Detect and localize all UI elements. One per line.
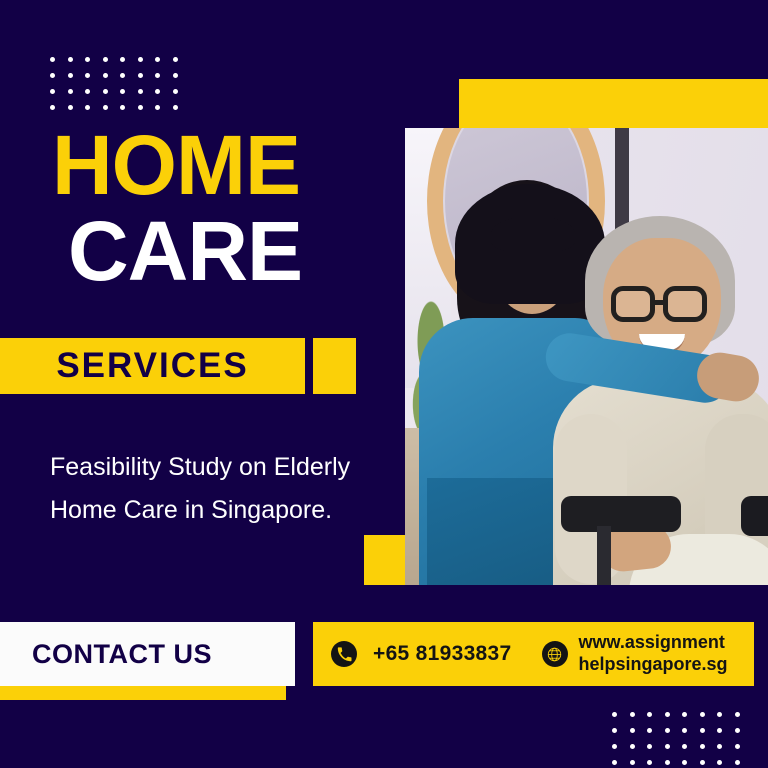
dot xyxy=(173,105,178,110)
dot xyxy=(665,712,670,717)
dot xyxy=(717,744,722,749)
contact-us-button[interactable]: CONTACT US xyxy=(0,622,295,686)
elderly-glasses-left xyxy=(611,286,655,322)
photo-accent-square-bottom xyxy=(364,535,405,585)
photo-accent-bar-top xyxy=(459,79,768,128)
dot xyxy=(682,712,687,717)
dot xyxy=(85,73,90,78)
dot xyxy=(682,744,687,749)
subtitle-text: Feasibility Study on Elderly Home Care i… xyxy=(50,446,365,532)
elderly-glasses-bridge xyxy=(655,300,665,305)
dot xyxy=(103,105,108,110)
dot xyxy=(682,728,687,733)
dot xyxy=(630,744,635,749)
website-url: www.assignment helpsingapore.sg xyxy=(579,632,728,676)
dot xyxy=(630,728,635,733)
dot xyxy=(612,744,617,749)
dot xyxy=(717,712,722,717)
dot xyxy=(700,744,705,749)
dot xyxy=(735,712,740,717)
hero-photo xyxy=(405,128,768,585)
dot-grid-top-left xyxy=(50,57,178,109)
website-block[interactable]: www.assignment helpsingapore.sg xyxy=(542,632,728,676)
dot xyxy=(68,105,73,110)
dot xyxy=(612,760,617,765)
dot-grid-bottom-right xyxy=(612,712,740,764)
dot xyxy=(665,728,670,733)
dot xyxy=(700,712,705,717)
headline-line-1: HOME xyxy=(52,123,300,207)
dot xyxy=(735,728,740,733)
services-label: SERVICES xyxy=(0,338,305,394)
dot xyxy=(647,760,652,765)
dot xyxy=(103,57,108,62)
headline-line-2: CARE xyxy=(68,209,302,293)
dot xyxy=(50,73,55,78)
dot xyxy=(138,73,143,78)
dot xyxy=(155,105,160,110)
dot xyxy=(647,728,652,733)
website-url-line-2: helpsingapore.sg xyxy=(579,654,728,676)
poster-canvas: HOME CARE SERVICES Feasibility Study on … xyxy=(0,0,768,768)
dot xyxy=(612,728,617,733)
dot xyxy=(103,73,108,78)
dot xyxy=(120,73,125,78)
dot xyxy=(155,57,160,62)
dot xyxy=(138,89,143,94)
dot xyxy=(50,57,55,62)
nurse-bangs xyxy=(491,216,575,252)
contact-info-bar: +65 81933837 www.assignment helpsingapor… xyxy=(313,622,754,686)
dot xyxy=(665,760,670,765)
wheelchair-armrest-right xyxy=(741,496,768,536)
dot xyxy=(682,760,687,765)
dot xyxy=(647,744,652,749)
cta-shadow-bar xyxy=(0,686,286,700)
dot xyxy=(85,57,90,62)
dot xyxy=(717,728,722,733)
dot xyxy=(173,57,178,62)
dot xyxy=(735,744,740,749)
dot xyxy=(120,57,125,62)
dot xyxy=(120,105,125,110)
wheelchair-post xyxy=(597,526,611,585)
dot xyxy=(630,712,635,717)
services-accent-square xyxy=(313,338,356,394)
globe-icon xyxy=(542,641,568,667)
dot xyxy=(155,89,160,94)
dot xyxy=(173,89,178,94)
dot xyxy=(50,105,55,110)
website-url-line-1: www.assignment xyxy=(579,632,728,654)
dot xyxy=(68,89,73,94)
dot xyxy=(103,89,108,94)
dot xyxy=(68,73,73,78)
dot xyxy=(50,89,55,94)
wheelchair-armrest xyxy=(561,496,681,532)
dot xyxy=(665,744,670,749)
dot xyxy=(155,73,160,78)
dot xyxy=(138,57,143,62)
dot xyxy=(85,105,90,110)
phone-icon xyxy=(331,641,357,667)
dot xyxy=(647,712,652,717)
dot xyxy=(85,89,90,94)
dot xyxy=(735,760,740,765)
elderly-glasses-right xyxy=(663,286,707,322)
dot xyxy=(700,760,705,765)
dot xyxy=(717,760,722,765)
dot xyxy=(120,89,125,94)
dot xyxy=(68,57,73,62)
dot xyxy=(612,712,617,717)
contact-us-label: CONTACT US xyxy=(0,639,212,670)
dot xyxy=(138,105,143,110)
dot xyxy=(630,760,635,765)
phone-number[interactable]: +65 81933837 xyxy=(373,642,512,666)
dot xyxy=(700,728,705,733)
dot xyxy=(173,73,178,78)
